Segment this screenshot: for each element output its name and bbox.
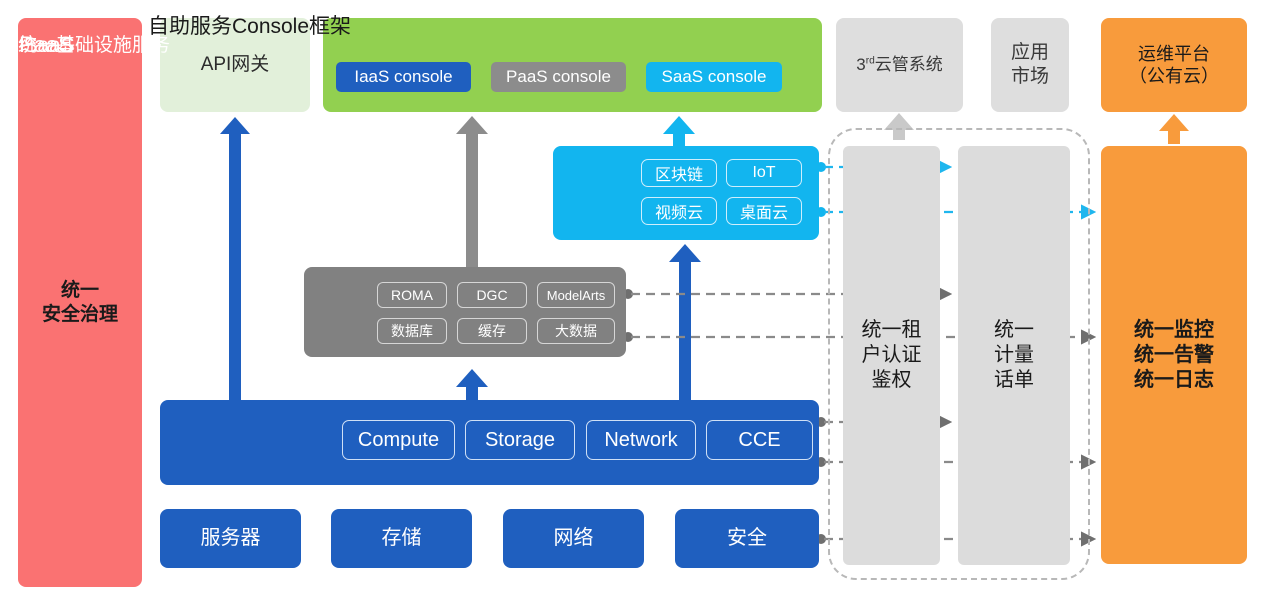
arrow-to-ops-platform <box>1159 114 1189 144</box>
arrow-infra-to-saas <box>669 244 701 400</box>
unified-monitoring-column: 统一监控 统一告警 统一日志 <box>1101 146 1247 564</box>
bottom-box-security[interactable]: 安全 <box>675 509 819 568</box>
saas-chip-video-cloud[interactable]: 视频云 <box>641 197 717 225</box>
infra-chip-compute-label: Compute <box>358 429 439 452</box>
paas-chip-roma[interactable]: ROMA <box>377 282 447 308</box>
paas-chip-dgc[interactable]: DGC <box>457 282 527 308</box>
paas-chip-dgc-label: DGC <box>476 287 507 303</box>
paas-chip-cache[interactable]: 缓存 <box>457 318 527 344</box>
saas-chip-blockchain-label: 区块链 <box>655 161 703 185</box>
bottom-box-server[interactable]: 服务器 <box>160 509 301 568</box>
paas-chip-database[interactable]: 数据库 <box>377 318 447 344</box>
infra-chip-cce-label: CCE <box>738 429 780 452</box>
bottom-box-storage[interactable]: 存储 <box>331 509 472 568</box>
iaas-console-label: IaaS console <box>354 67 452 87</box>
paas-chip-modelarts[interactable]: ModelArts <box>537 282 615 308</box>
paas-chip-cache-label: 缓存 <box>478 321 506 341</box>
infra-chip-network[interactable]: Network <box>586 420 696 460</box>
arrow-infra-to-paas <box>456 369 488 400</box>
bottom-box-security-label: 安全 <box>727 526 767 551</box>
bottom-box-storage-label: 存储 <box>382 526 422 551</box>
arrow-paas-to-console <box>456 116 488 267</box>
column-unified-tenant-auth: 统一租 户认证 鉴权 <box>843 146 940 565</box>
api-gateway-label: API网关 <box>201 53 270 77</box>
saas-chip-iot[interactable]: IoT <box>726 159 802 187</box>
paas-chip-bigdata[interactable]: 大数据 <box>537 318 615 344</box>
paas-chip-database-label: 数据库 <box>391 321 433 341</box>
unified-monitoring-label: 统一监控 统一告警 统一日志 <box>1134 318 1214 393</box>
app-market-box: 应用 市场 <box>991 18 1069 112</box>
column-unified-metering: 统一 计量 话单 <box>958 146 1070 565</box>
saas-chip-desktop-label: 桌面云 <box>740 199 788 223</box>
ops-platform-label: 运维平台 （公有云） <box>1129 43 1219 88</box>
saas-chip-video-label: 视频云 <box>655 199 703 223</box>
ops-platform-public-cloud-box: 运维平台 （公有云） <box>1101 18 1247 112</box>
saas-console-chip[interactable]: SaaS console <box>646 62 782 92</box>
bottom-box-server-label: 服务器 <box>201 526 261 551</box>
paas-chip-modelarts-label: ModelArts <box>547 288 606 303</box>
infra-chip-cce[interactable]: CCE <box>706 420 813 460</box>
iaas-console-chip[interactable]: IaaS console <box>336 62 471 92</box>
third-party-cloud-label: 3rd云管系统 <box>856 54 943 75</box>
saas-chip-desktop-cloud[interactable]: 桌面云 <box>726 197 802 225</box>
infra-chip-compute[interactable]: Compute <box>342 420 455 460</box>
saas-console-label: SaaS console <box>662 67 767 87</box>
third-party-superscript: rd <box>866 56 875 67</box>
unified-infrastructure-label: 统一基础设施服务 <box>14 30 174 57</box>
infra-chip-storage-label: Storage <box>485 429 555 452</box>
app-market-label: 应用 市场 <box>1011 41 1049 89</box>
bottom-box-network-label: 网络 <box>554 526 594 551</box>
arrow-infra-to-api-gateway <box>220 117 250 400</box>
bottom-box-network[interactable]: 网络 <box>503 509 644 568</box>
unified-security-governance-panel: 统一 安全治理 <box>18 18 142 587</box>
paas-console-chip[interactable]: PaaS console <box>491 62 626 92</box>
architecture-diagram: 统一租 户认证 鉴权 统一 计量 话单 统一 安全治理 API网关 自助服务Co… <box>0 0 1265 605</box>
security-governance-label: 统一 安全治理 <box>42 279 118 327</box>
paas-chip-roma-label: ROMA <box>391 287 433 303</box>
saas-chip-iot-label: IoT <box>752 164 775 182</box>
saas-chip-blockchain[interactable]: 区块链 <box>641 159 717 187</box>
infra-chip-storage[interactable]: Storage <box>465 420 575 460</box>
column-metering-label: 统一 计量 话单 <box>994 318 1034 393</box>
third-party-cloud-mgmt-box: 3rd云管系统 <box>836 18 963 112</box>
paas-console-label: PaaS console <box>506 67 611 87</box>
infra-chip-network-label: Network <box>604 429 677 452</box>
arrow-saas-to-console <box>663 116 695 146</box>
paas-chip-bigdata-label: 大数据 <box>555 321 597 341</box>
column-auth-label: 统一租 户认证 鉴权 <box>862 318 922 393</box>
